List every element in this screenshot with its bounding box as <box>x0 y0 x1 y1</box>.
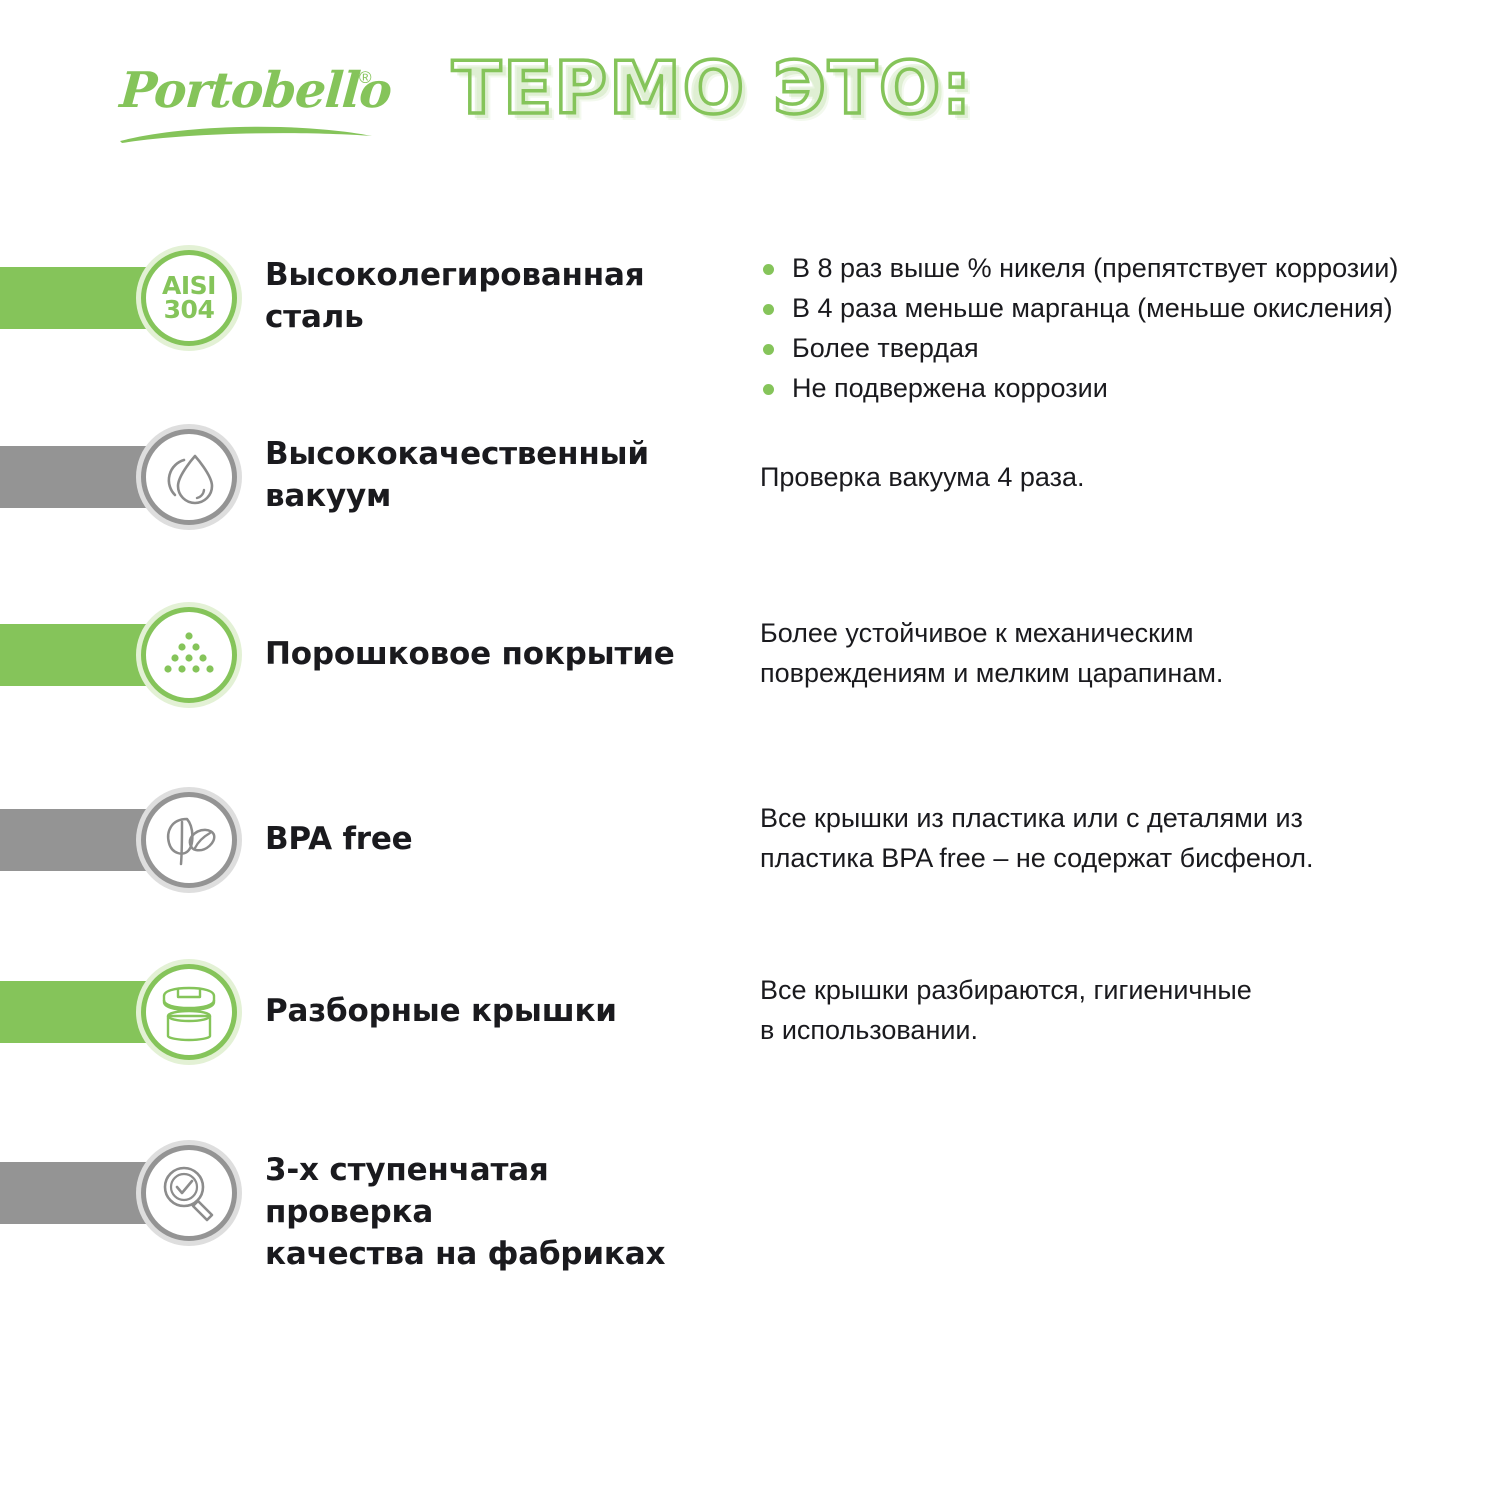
feature-title: BPA free <box>265 818 413 860</box>
feature-title: Высоколегированная сталь <box>265 254 644 338</box>
magnifier-check-icon <box>136 1140 242 1246</box>
badge-glyph <box>141 964 237 1060</box>
magnifier-glyph-icon <box>157 1161 221 1225</box>
feature-description: Все крышки из пластика или с деталями из… <box>760 798 1314 878</box>
feature-list: AISI 304 Высоколегированная сталь В 8 ра… <box>0 0 1500 1500</box>
droplet-glyph-icon <box>158 446 220 508</box>
badge-glyph: AISI 304 <box>141 250 237 346</box>
feature-description: Более устойчивое к механическим поврежде… <box>760 613 1223 693</box>
dots-triangle-glyph-icon <box>158 629 220 681</box>
list-item: В 4 раза меньше марганца (меньше окислен… <box>760 288 1398 328</box>
badge-glyph <box>141 607 237 703</box>
badge-glyph <box>141 792 237 888</box>
feature-description: Все крышки разбираются, гигиеничные в ис… <box>760 970 1252 1050</box>
list-item: Не подвержена коррозии <box>760 368 1398 408</box>
feature-title: Высококачественный вакуум <box>265 433 649 517</box>
list-item: В 8 раз выше % никеля (препятствует корр… <box>760 248 1398 288</box>
feature-title: 3-х ступенчатая проверка качества на фаб… <box>265 1149 705 1275</box>
two-leaves-glyph-icon <box>158 810 220 870</box>
feature-description: Проверка вакуума 4 раза. <box>760 457 1085 497</box>
lid-parts-glyph-icon <box>156 982 222 1042</box>
feature-title: Разборные крышки <box>265 990 617 1032</box>
aisi-304-badge-icon: AISI 304 <box>136 245 242 351</box>
list-item: Более твердая <box>760 328 1398 368</box>
feature-title: Порошковое покрытие <box>265 633 675 675</box>
badge-glyph <box>141 1145 237 1241</box>
feature-bullet-list: В 8 раз выше % никеля (препятствует корр… <box>760 248 1398 408</box>
water-droplet-icon <box>136 424 242 530</box>
powder-dots-icon <box>136 602 242 708</box>
aisi-label: AISI 304 <box>162 274 216 323</box>
aisi-line-2: 304 <box>162 298 216 323</box>
badge-glyph <box>141 429 237 525</box>
detachable-lid-icon <box>136 959 242 1065</box>
leaves-icon <box>136 787 242 893</box>
